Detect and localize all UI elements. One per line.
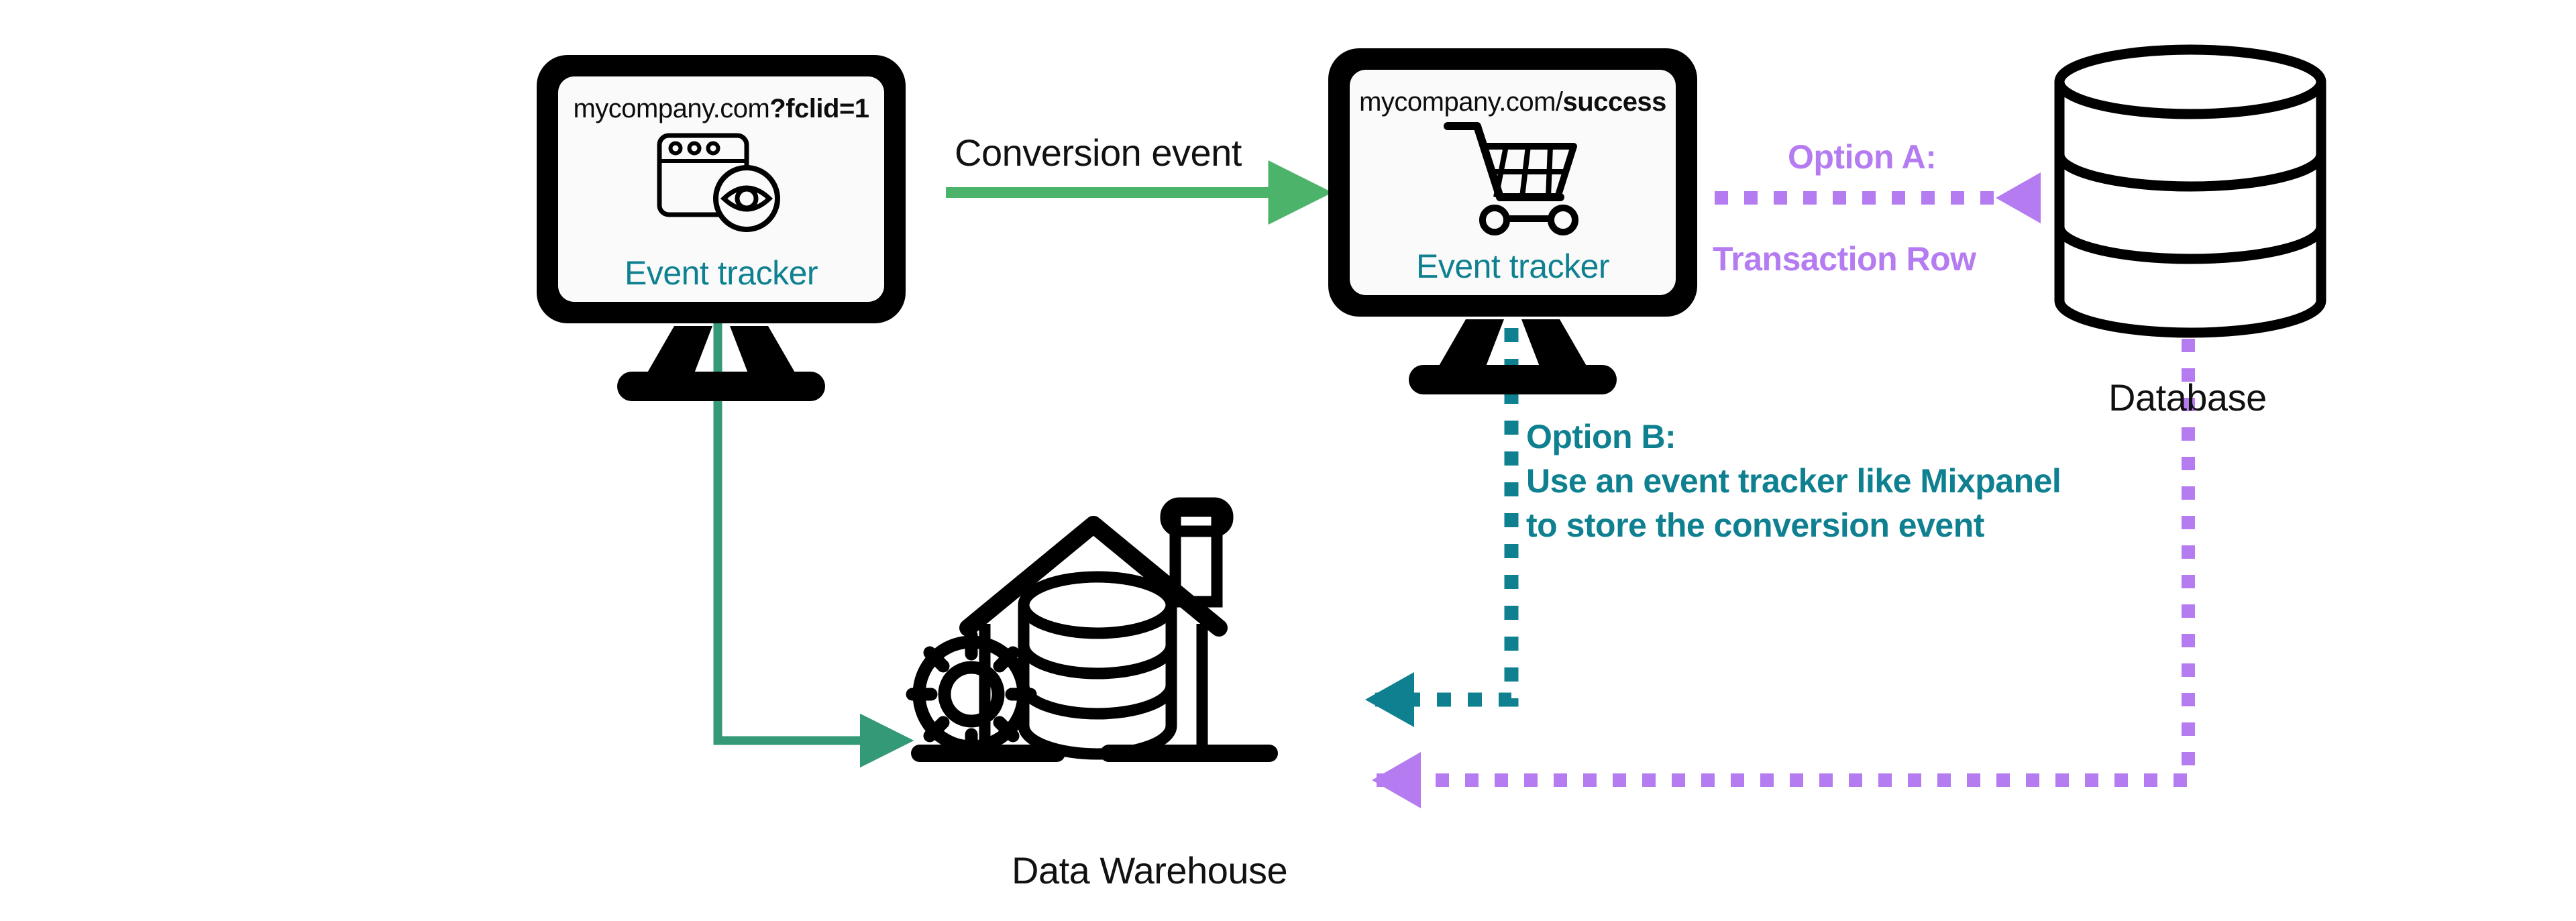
monitor-left[interactable]: mycompany.com?fclid=1 Event tracker <box>537 55 906 323</box>
url-prefix: mycompany.com/ <box>1359 87 1562 117</box>
option-b-line3: to store the conversion event <box>1526 503 2061 547</box>
monitor-right-bezel: mycompany.com/success Even <box>1328 48 1697 317</box>
option-b-label: Option B: Use an event tracker like Mixp… <box>1526 415 2061 547</box>
monitor-right-url: mycompany.com/success <box>1350 87 1676 117</box>
monitor-right[interactable]: mycompany.com/success Even <box>1328 48 1697 317</box>
url-suffix: success <box>1563 87 1666 117</box>
database-label: Database <box>2108 376 2267 419</box>
browser-window-eye-icon <box>558 130 884 237</box>
option-b-line1: Option B: <box>1526 415 2061 459</box>
diagram-canvas: mycompany.com?fclid=1 Event tracker <box>0 0 2576 921</box>
option-b-line2: Use an event tracker like Mixpanel <box>1526 459 2061 503</box>
monitor-left-bezel: mycompany.com?fclid=1 Event tracker <box>537 55 906 323</box>
data-warehouse-house-icon <box>885 496 1301 832</box>
option-a-label-line1: Option A: <box>1788 138 1936 176</box>
monitor-left-stand <box>537 321 906 408</box>
database-cylinder-icon <box>2046 40 2334 342</box>
monitor-left-screen: mycompany.com?fclid=1 Event tracker <box>558 76 884 302</box>
shopping-cart-icon <box>1350 118 1676 239</box>
database-node[interactable] <box>2046 40 2334 342</box>
warehouse-label: Data Warehouse <box>1012 849 1287 892</box>
url-prefix: mycompany.com <box>573 94 769 123</box>
monitor-right-stand <box>1328 314 1697 401</box>
edge-option-a <box>1715 172 2041 223</box>
edge-database-to-warehouse <box>1368 339 2188 808</box>
monitor-right-caption: Event tracker <box>1350 247 1676 286</box>
option-a-label-line2: Transaction Row <box>1713 239 1976 278</box>
monitor-right-screen: mycompany.com/success Even <box>1350 70 1676 295</box>
conversion-event-label: Conversion event <box>955 131 1242 174</box>
monitor-left-caption: Event tracker <box>558 254 884 292</box>
url-suffix: ?fclid=1 <box>769 94 869 123</box>
warehouse-node[interactable] <box>885 496 1301 832</box>
monitor-left-url: mycompany.com?fclid=1 <box>558 94 884 124</box>
